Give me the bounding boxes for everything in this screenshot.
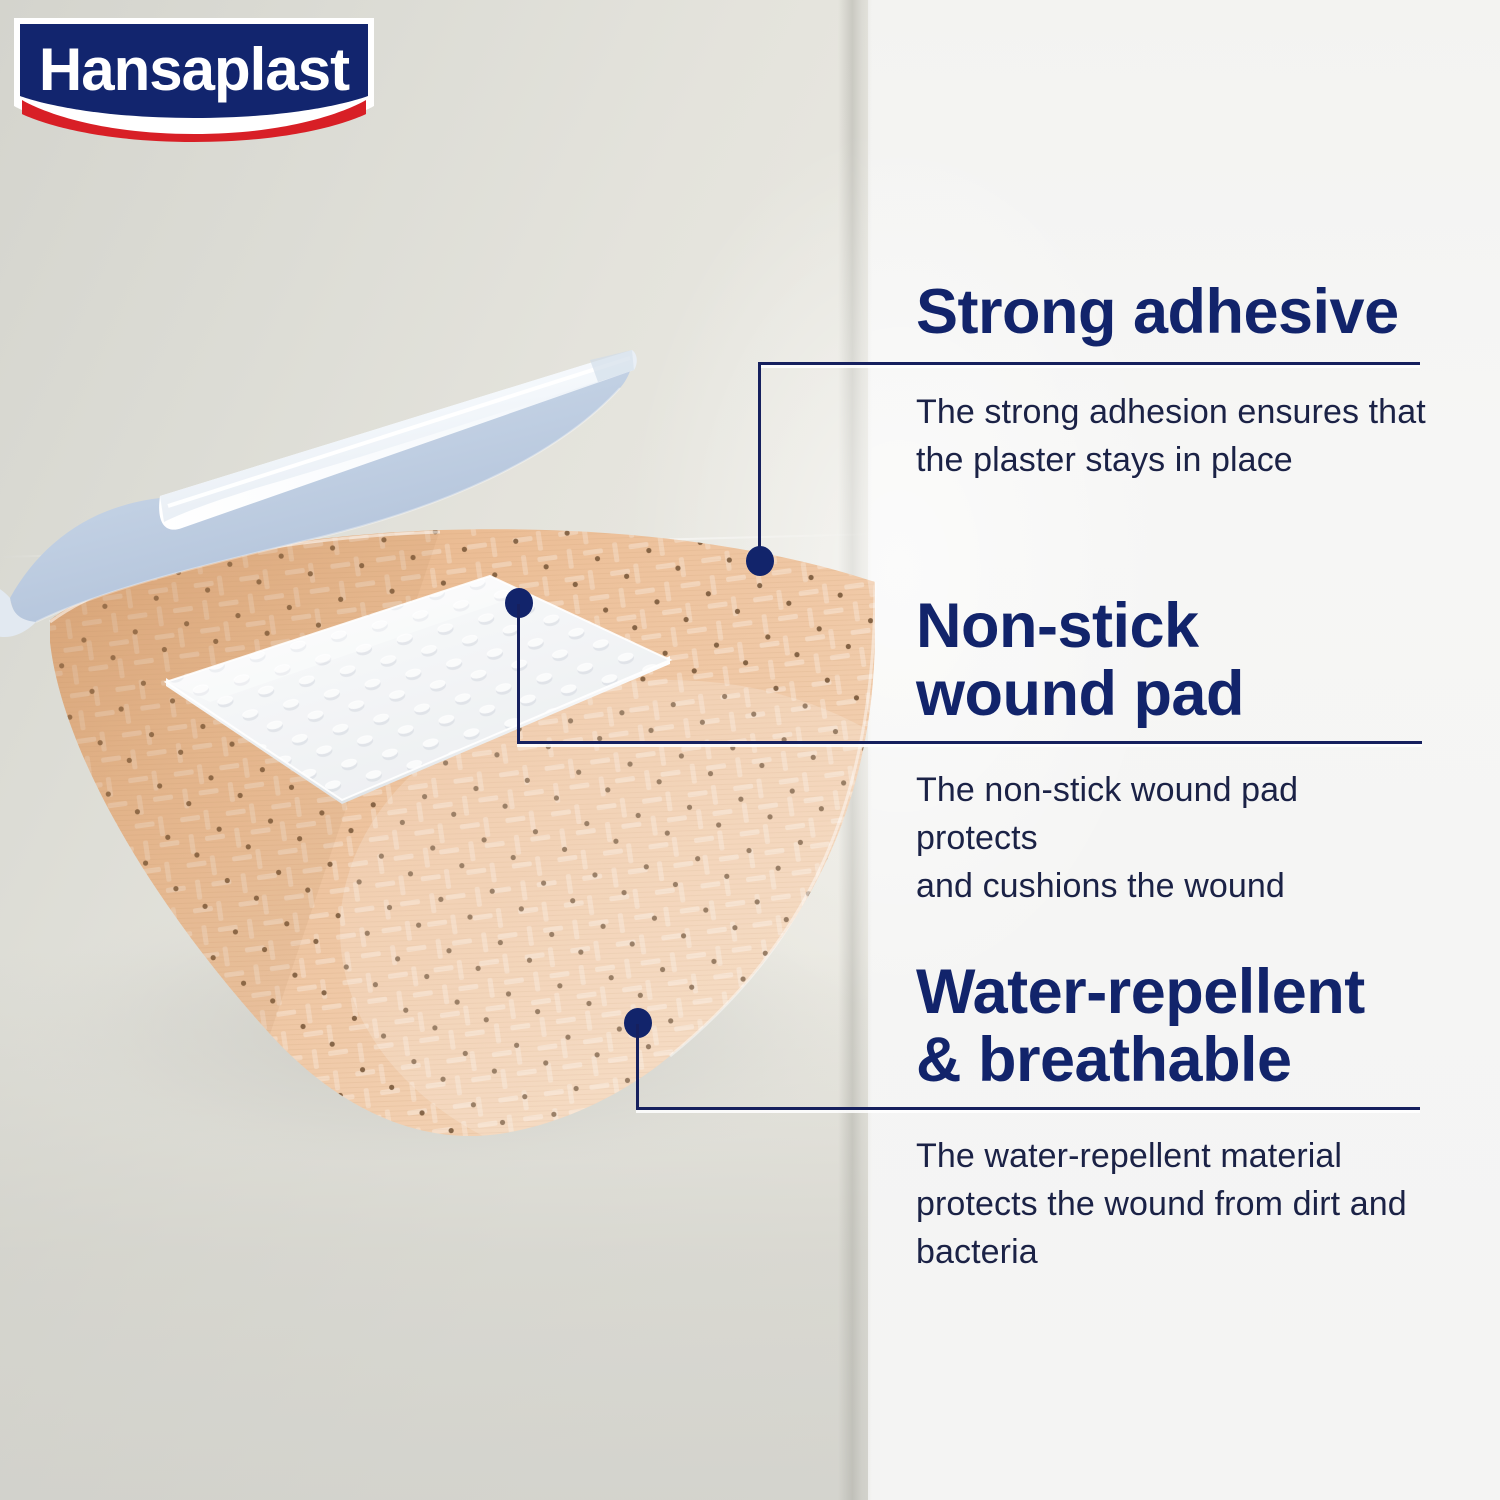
- feature-body-block-strong-adhesive: The strong adhesion ensures that the pla…: [916, 388, 1428, 484]
- callout-line-2-horizontal: [517, 741, 1422, 744]
- callout-line-1-vertical: [758, 362, 761, 562]
- feature-body-block-non-stick-wound-pad: The non-stick wound pad protects and cus…: [916, 766, 1428, 910]
- feature-body-block-water-repellent-breathable: The water-repellent material protects th…: [916, 1132, 1428, 1276]
- callout-line-3-horizontal: [636, 1107, 1420, 1110]
- callout-line-3-vertical: [636, 1024, 639, 1110]
- feature-title-strong-adhesive: Strong adhesive: [916, 278, 1426, 346]
- callout-line-2-vertical: [517, 604, 520, 744]
- callout-dot-1: [746, 546, 774, 576]
- feature-block-non-stick-wound-pad: Non-stick wound pad: [916, 592, 1426, 728]
- feature-title-water-repellent-breathable: Water-repellent & breathable: [916, 958, 1426, 1094]
- feature-block-strong-adhesive: Strong adhesive: [916, 278, 1426, 346]
- feature-title-non-stick-wound-pad: Non-stick wound pad: [916, 592, 1426, 728]
- feature-body-non-stick-wound-pad: The non-stick wound pad protects and cus…: [916, 766, 1428, 910]
- feature-body-strong-adhesive: The strong adhesion ensures that the pla…: [916, 388, 1428, 484]
- infographic-canvas: Hansaplast: [0, 0, 1500, 1500]
- callout-line-1-horizontal: [758, 362, 1420, 365]
- feature-body-water-repellent-breathable: The water-repellent material protects th…: [916, 1132, 1428, 1276]
- feature-block-water-repellent-breathable: Water-repellent & breathable: [916, 958, 1426, 1094]
